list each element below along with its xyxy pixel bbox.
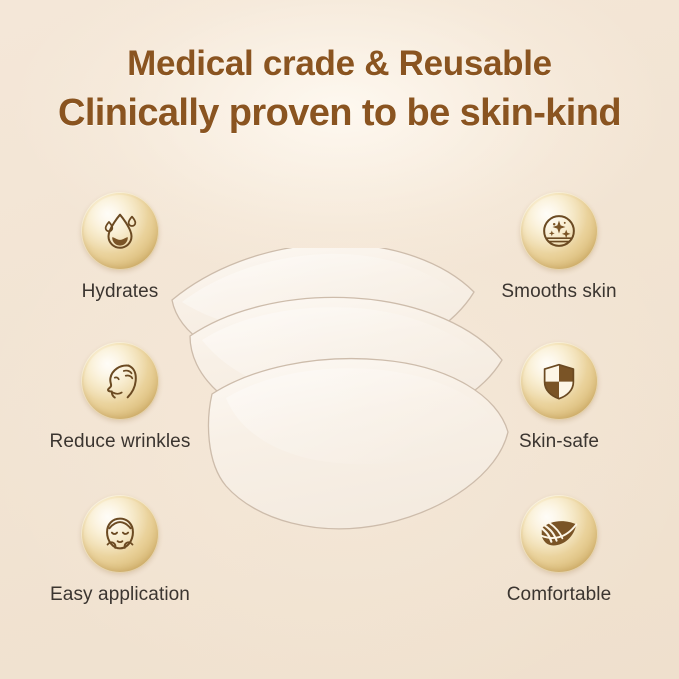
water-drop-icon [97,208,143,254]
feature-label: Easy application [50,584,190,606]
feature-badge [81,342,159,420]
headline-line-1: Medical crade & Reusable [0,44,679,85]
product-feature-poster: Medical crade & Reusable Clinically prov… [0,0,679,679]
feature-badge [520,495,598,573]
feature-badge [81,495,159,573]
shield-icon [536,358,582,404]
feature-comfortable: Comfortable [439,495,679,606]
feature-label: Hydrates [82,281,159,303]
feature-reduce-wrinkles: Reduce wrinkles [0,342,240,453]
feature-badge [81,192,159,270]
feature-badge [520,342,598,420]
feature-label: Comfortable [507,584,612,606]
feature-label: Reduce wrinkles [50,431,191,453]
feature-label: Skin-safe [519,431,599,453]
leaf-icon [536,511,582,557]
feature-skin-safe: Skin-safe [439,342,679,453]
feature-easy-application: Easy application [0,495,240,606]
feature-label: Smooths skin [501,281,616,303]
feature-badge [520,192,598,270]
headline-block: Medical crade & Reusable Clinically prov… [0,44,679,135]
feature-smooths-skin: Smooths skin [439,192,679,303]
headline-line-2: Clinically proven to be skin-kind [0,91,679,136]
relaxed-face-icon [97,511,143,557]
face-profile-icon [97,358,143,404]
sparkle-skin-icon [536,208,582,254]
feature-hydrates: Hydrates [0,192,240,303]
